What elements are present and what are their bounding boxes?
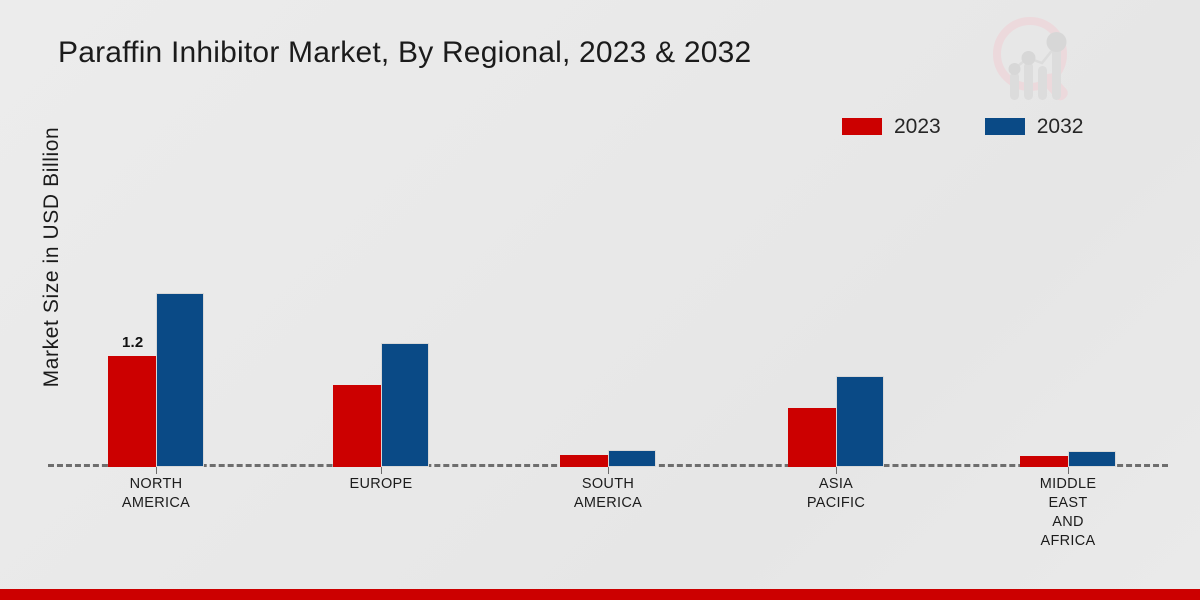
x-tick (1068, 467, 1069, 474)
category-label-europe: EUROPE (307, 475, 455, 494)
category-line: AMERICA (534, 494, 682, 513)
footer-stripe (0, 589, 1200, 600)
data-label-2023-north-america: 1.2 (122, 334, 143, 351)
category-line: EAST (994, 494, 1142, 513)
plot-area: 1.2 NORTH AMERICA EUROPE (48, 150, 1168, 467)
bar-2023-asia-pacific[interactable] (788, 408, 836, 467)
category-line: PACIFIC (762, 494, 910, 513)
chart-title: Paraffin Inhibitor Market, By Regional, … (58, 36, 751, 70)
x-tick (836, 467, 837, 474)
category-line: AFRICA (994, 532, 1142, 551)
category-label-south-america: SOUTH AMERICA (534, 475, 682, 513)
x-tick (608, 467, 609, 474)
bar-pair (1020, 150, 1116, 467)
legend-item-2032[interactable]: 2032 (985, 116, 1084, 137)
category-line: MIDDLE (994, 475, 1142, 494)
bar-pair (333, 150, 429, 467)
x-tick (381, 467, 382, 474)
bar-2023-middle-east-and-africa[interactable] (1020, 456, 1068, 467)
chart-legend: 2023 2032 (842, 116, 1083, 137)
watermark-logo (984, 6, 1088, 106)
legend-item-2023[interactable]: 2023 (842, 116, 941, 137)
bar-2032-north-america[interactable] (156, 293, 204, 467)
bar-2032-asia-pacific[interactable] (836, 376, 884, 467)
category-line: NORTH (82, 475, 230, 494)
x-tick (156, 467, 157, 474)
bar-2023-north-america[interactable] (108, 356, 156, 467)
category-label-asia-pacific: ASIA PACIFIC (762, 475, 910, 513)
bar-pair (560, 150, 656, 467)
category-label-middle-east-and-africa: MIDDLE EAST AND AFRICA (994, 475, 1142, 551)
bar-2023-south-america[interactable] (560, 455, 608, 467)
chart-figure: Paraffin Inhibitor Market, By Regional, … (0, 0, 1200, 600)
category-line: ASIA (762, 475, 910, 494)
bar-2032-south-america[interactable] (608, 450, 656, 467)
legend-label-2032: 2032 (1037, 116, 1084, 137)
legend-swatch-2032 (985, 118, 1025, 135)
bar-2023-europe[interactable] (333, 385, 381, 467)
legend-label-2023: 2023 (894, 116, 941, 137)
category-line: EUROPE (307, 475, 455, 494)
category-line: SOUTH (534, 475, 682, 494)
bar-2032-europe[interactable] (381, 343, 429, 467)
category-line: AND (994, 513, 1142, 532)
category-line: AMERICA (82, 494, 230, 513)
bar-2032-middle-east-and-africa[interactable] (1068, 451, 1116, 467)
bar-pair (108, 150, 204, 467)
bar-pair (788, 150, 884, 467)
magnifier-bar-chart-icon (984, 6, 1088, 106)
category-label-north-america: NORTH AMERICA (82, 475, 230, 513)
legend-swatch-2023 (842, 118, 882, 135)
